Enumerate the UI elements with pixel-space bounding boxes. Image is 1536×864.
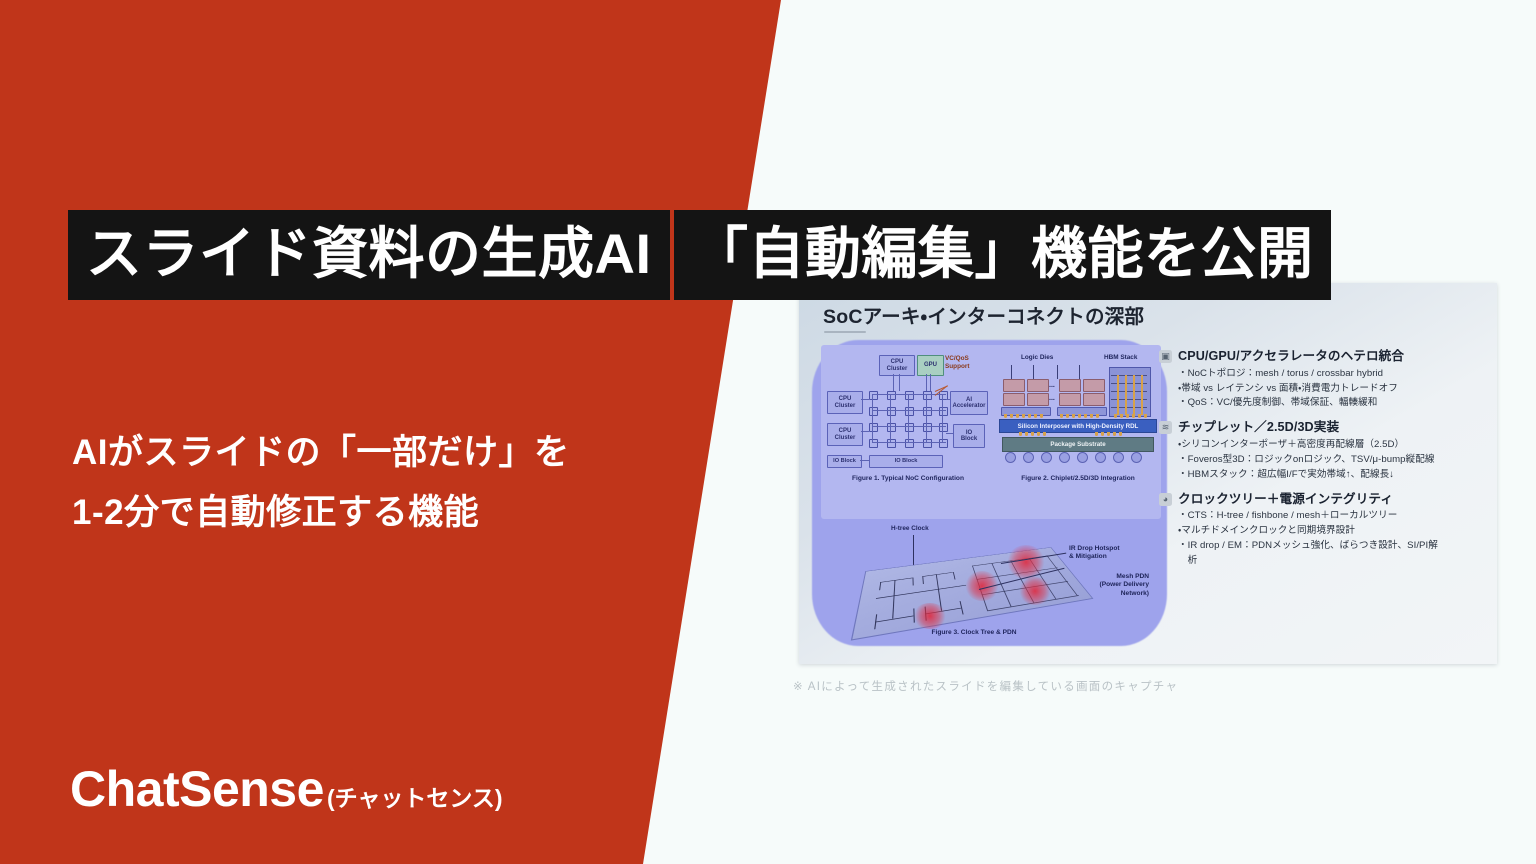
bullet-group-3-item-4: 析 — [1178, 554, 1481, 569]
label-vc-qos-support: VC/QoSSupport — [945, 355, 970, 370]
figure-3-caption: Figure 3. Clock Tree & PDN — [899, 629, 1049, 636]
label-ellipsis-bottom: ... — [1049, 395, 1055, 402]
bullet-group-2-item-3: ・HBMスタック：超広幅I/Fで実効帯域↑、配線長↓ — [1178, 468, 1481, 483]
slide-caption: ※ AIによって生成されたスライドを編集している画面のキャプチャ — [793, 678, 1178, 694]
bullet-group-3-item-2: ・マルチドメインクロックと同期境界設計 — [1178, 524, 1481, 539]
chip-icon: ▣ — [1159, 350, 1172, 363]
bullet-group-2-item-1: ・シリコンインターポーザ＋高密度再配線層（2.5D） — [1178, 438, 1481, 453]
slide-title-rule — [824, 331, 866, 333]
subheadline-line-1: AIがスライドの「一部だけ」を — [72, 423, 570, 483]
hotspot-4 — [913, 603, 947, 629]
label-silicon-interposer: Silicon Interposer with High-Density RDL — [999, 419, 1157, 433]
node-io-block-right: IOBlock — [953, 424, 985, 448]
bullet-group-2-heading: チップレット／2.5D/3D実装 — [1178, 420, 1481, 436]
slide-banner: スライド資料の生成AI 「自動編集」機能を公開 AIがスライドの「一部だけ」を … — [0, 0, 1536, 864]
bullet-group-2-item-2: ・Foveros型3D：ロジックonロジック、TSV/μ-bump縦配線 — [1178, 453, 1481, 468]
label-hbm-stack: HBM Stack — [1104, 354, 1137, 361]
brand-logo: ChatSense (チャットセンス) — [70, 760, 503, 818]
slide-bullet-column: ▣ CPU/GPU/アクセラレータのヘテロ統合 ・NoCトポロジ：mesh / … — [1159, 349, 1481, 578]
brand-name: ChatSense — [70, 760, 324, 818]
node-cpu-cluster-top: CPUCluster — [879, 355, 915, 376]
headline-line-1: スライド資料の生成AI — [68, 210, 670, 300]
brand-reading: (チャットセンス) — [327, 779, 503, 813]
node-gpu: GPU — [917, 355, 944, 376]
bullet-group-3: ◕ クロックツリー＋電源インテグリティ ・CTS：H-tree / fishbo… — [1159, 492, 1481, 569]
bullet-group-2: ≋ チップレット／2.5D/3D実装 ・シリコンインターポーザ＋高密度再配線層（… — [1159, 420, 1481, 482]
node-io-block-bottom: IO Block — [869, 455, 943, 468]
bullet-group-3-heading: クロックツリー＋電源インテグリティ — [1178, 492, 1481, 508]
figure-1-noc: CPUCluster GPU CPUCluster CPUCluster AIA… — [827, 351, 989, 499]
label-mesh-pdn: Mesh PDN(Power DeliveryNetwork) — [1039, 573, 1149, 598]
bullet-group-1-item-2: ・帯域 vs レイテンシ vs 面積・消費電力トレードオフ — [1178, 382, 1481, 397]
node-cpu-cluster-left-2: CPUCluster — [827, 423, 863, 446]
subheadline-line-2: 1-2分で自動修正する機能 — [72, 483, 570, 543]
node-io-block-bottom-left: IO Block — [827, 455, 862, 468]
figure-2-chiplet: Logic Dies HBM Stack ... ... — [999, 351, 1157, 499]
label-logic-dies: Logic Dies — [1021, 354, 1053, 361]
bullet-group-1-item-3: ・QoS：VC/優先度制御、帯域保証、輻輳緩和 — [1178, 396, 1481, 411]
label-ir-drop-hotspot: IR Drop Hotspot& Mitigation — [1069, 545, 1120, 562]
figure-3-clock-pdn: H-tree Clock — [821, 525, 1161, 643]
bullet-group-3-item-3: ・IR drop / EM：PDNメッシュ強化、ばらつき設計、SI/PI解 — [1178, 539, 1481, 554]
clock-icon: ◕ — [1159, 493, 1172, 506]
figure-1-caption: Figure 1. Typical NoC Configuration — [833, 475, 983, 482]
label-package-substrate: Package Substrate — [1002, 437, 1154, 452]
headline-line-2: 「自動編集」機能を公開 — [674, 210, 1332, 300]
bullet-group-1: ▣ CPU/GPU/アクセラレータのヘテロ統合 ・NoCトポロジ：mesh / … — [1159, 349, 1481, 411]
figure-2-caption: Figure 2. Chiplet/2.5D/3D Integration — [999, 475, 1157, 482]
node-ai-accelerator: AIAccelerator — [950, 391, 988, 415]
label-ellipsis-top: ... — [1049, 382, 1055, 389]
slide-screenshot: SoCアーキ・インターコネクトの深部 CPUCluster GPU CPUClu… — [799, 283, 1497, 664]
bullet-group-3-item-1: ・CTS：H-tree / fishbone / mesh＋ローカルツリー — [1178, 509, 1481, 524]
node-cpu-cluster-left-1: CPUCluster — [827, 391, 863, 414]
headline: スライド資料の生成AI 「自動編集」機能を公開 — [68, 200, 1331, 300]
subheadline: AIがスライドの「一部だけ」を 1-2分で自動修正する機能 — [72, 423, 570, 543]
bullet-group-1-heading: CPU/GPU/アクセラレータのヘテロ統合 — [1178, 349, 1481, 365]
bullet-group-1-item-1: ・NoCトポロジ：mesh / torus / crossbar hybrid — [1178, 367, 1481, 382]
label-htree-clock: H-tree Clock — [891, 525, 929, 532]
diagram-card: CPUCluster GPU CPUCluster CPUCluster AIA… — [821, 345, 1161, 519]
slide-title: SoCアーキ・インターコネクトの深部 — [823, 300, 1144, 329]
layers-icon: ≋ — [1159, 421, 1172, 434]
